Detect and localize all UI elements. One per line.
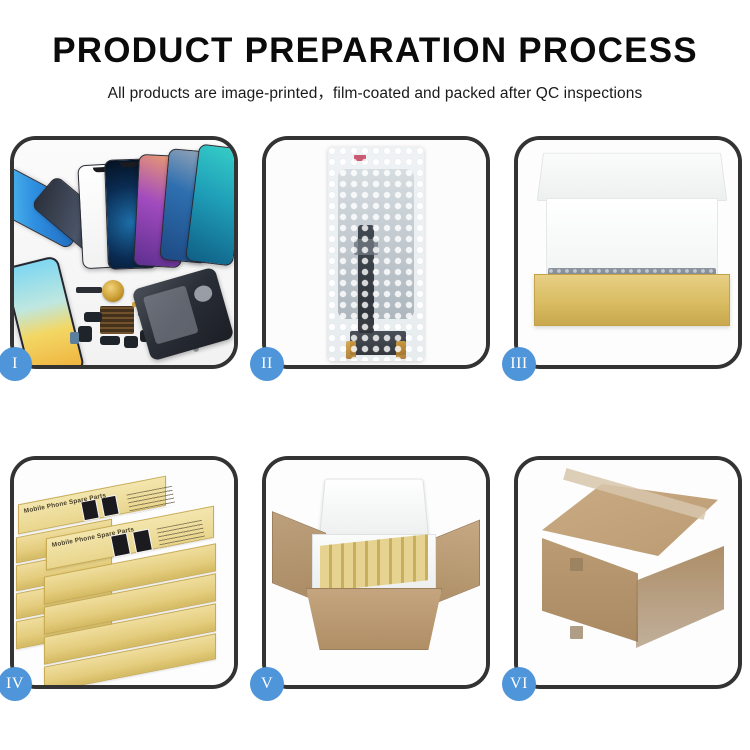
products-and-parts-illustration: [14, 140, 234, 365]
step-panel-2[interactable]: II: [262, 136, 490, 369]
carton-right-face: [636, 546, 724, 648]
gold-tab-right: [396, 341, 406, 359]
foam-sheet: [546, 198, 718, 278]
step-panel-3[interactable]: III: [514, 136, 742, 369]
page-title: PRODUCT PREPARATION PROCESS: [0, 33, 750, 70]
bubble-wrap-illustration: [266, 140, 486, 365]
speaker-coil-part: [102, 280, 124, 302]
step-image-1: [14, 140, 234, 365]
step-badge-4: IV: [0, 667, 32, 701]
page-subtitle: All products are image-printed，film-coat…: [0, 81, 750, 103]
carton-left-face: [542, 538, 638, 642]
step-image-2: [266, 140, 486, 365]
process-step-grid: I II: [10, 136, 743, 689]
phone-fan-group: [14, 146, 234, 274]
flex-cable-part: [124, 336, 138, 348]
carton-front-panel: [306, 588, 442, 650]
step-badge-2: II: [250, 347, 284, 381]
product-preparation-infographic: PRODUCT PREPARATION PROCESS All products…: [0, 0, 750, 750]
lcd-driver-ic: [354, 239, 378, 255]
step-badge-1: I: [0, 347, 32, 381]
foam-inner-box-illustration: [518, 140, 738, 365]
step-badge-6: VI: [502, 667, 536, 701]
carton-packing-illustration: [266, 460, 486, 685]
step-panel-5[interactable]: V: [262, 456, 490, 689]
box-lid: [537, 153, 728, 201]
header: PRODUCT PREPARATION PROCESS All products…: [0, 0, 750, 103]
connector-grid-part: [100, 306, 134, 334]
step-panel-4[interactable]: Mobile Phone Spare Parts Mobile Phone Sp…: [10, 456, 238, 689]
step-badge-5: V: [250, 667, 284, 701]
yellow-box-tray: [534, 274, 730, 326]
bubble-wrap-bag: [328, 147, 424, 361]
step-panel-6[interactable]: VI: [514, 456, 742, 689]
carton-marking: [570, 558, 583, 571]
battery-part: [70, 332, 79, 344]
notch-icon: [120, 162, 139, 168]
step-panel-1[interactable]: I: [10, 136, 238, 369]
flex-cable-part: [78, 326, 92, 342]
step-image-4: Mobile Phone Spare Parts Mobile Phone Sp…: [14, 460, 234, 685]
qc-sticker: [354, 155, 366, 161]
small-chip-part: [76, 287, 102, 293]
opened-phone-internals: [131, 267, 234, 362]
step-badge-3: III: [502, 347, 536, 381]
flex-cable-part: [100, 336, 120, 345]
carton-marking: [570, 626, 583, 639]
sealed-carton-illustration: [518, 460, 738, 685]
flex-cable-part: [84, 312, 102, 322]
gold-tab-left: [346, 341, 356, 359]
stacked-boxes-illustration: Mobile Phone Spare Parts Mobile Phone Sp…: [14, 460, 234, 685]
step-image-6: [518, 460, 738, 685]
step-image-5: [266, 460, 486, 685]
foam-lid: [319, 479, 429, 537]
step-image-3: [518, 140, 738, 365]
box-stack: Mobile Phone Spare Parts Mobile Phone Sp…: [16, 476, 234, 676]
